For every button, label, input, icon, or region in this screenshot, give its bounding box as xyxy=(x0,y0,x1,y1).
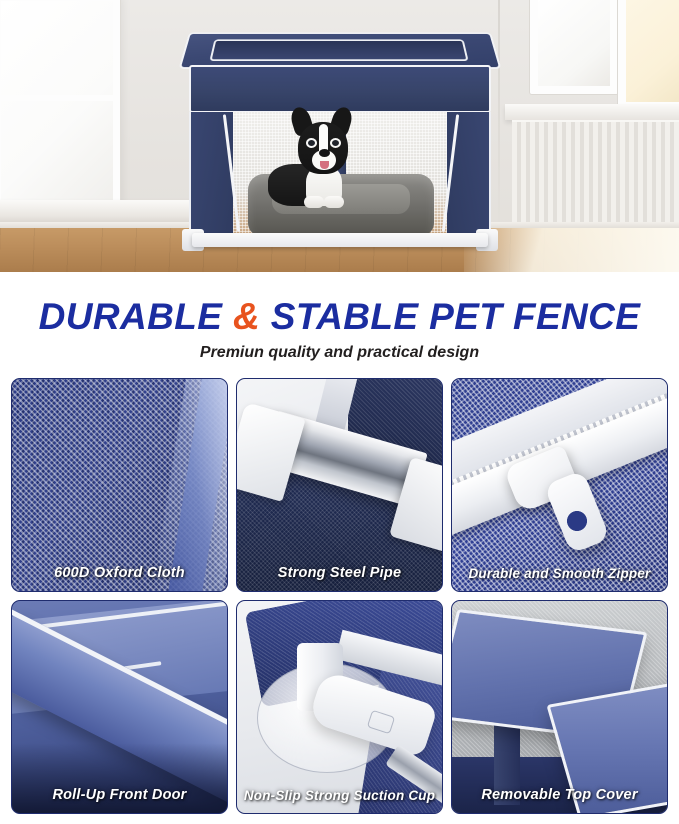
feature-label-roll-up-door: Roll-Up Front Door xyxy=(12,787,227,803)
headline: DURABLE & STABLE PET FENCE xyxy=(0,296,679,338)
feature-card-steel-pipe: Strong Steel Pipe xyxy=(236,378,443,592)
playpen-top-opening xyxy=(209,39,468,61)
dog-eye-left xyxy=(308,140,315,146)
feature-card-suction-cup: Non-Slip Strong Suction Cup xyxy=(236,600,443,814)
headline-part-2: STABLE PET FENCE xyxy=(271,296,641,337)
border-collie-dog xyxy=(272,116,376,212)
product-feature-page: DURABLE & STABLE PET FENCE Premiun quali… xyxy=(0,0,679,824)
steel-pipe-photo xyxy=(237,379,442,591)
roll-up-door-photo xyxy=(12,601,227,813)
window-left xyxy=(0,0,120,212)
feature-card-top-cover: Removable Top Cover xyxy=(451,600,668,814)
dog-tongue xyxy=(320,161,329,169)
suction-cup-photo xyxy=(237,601,442,813)
feature-card-oxford-cloth: 600D Oxford Cloth xyxy=(11,378,228,592)
playpen-upper-band xyxy=(189,65,491,113)
feature-card-roll-up-door: Roll-Up Front Door xyxy=(11,600,228,814)
zipper-photo xyxy=(452,379,667,591)
headline-part-1: DURABLE xyxy=(39,296,223,337)
window-right-near xyxy=(530,0,618,94)
top-cover-photo xyxy=(452,601,667,813)
hero-product-photo xyxy=(0,0,679,272)
feature-label-suction-cup: Non-Slip Strong Suction Cup xyxy=(237,788,442,803)
oxford-cloth-photo xyxy=(12,379,227,591)
pet-playpen xyxy=(178,28,502,250)
feature-label-zipper: Durable and Smooth Zipper xyxy=(452,566,667,581)
window-sill-right xyxy=(505,104,679,120)
feature-label-steel-pipe: Strong Steel Pipe xyxy=(237,565,442,581)
dog-nose xyxy=(319,149,330,157)
dog-paw-right xyxy=(324,196,344,208)
fabric-fold xyxy=(168,379,228,592)
headline-ampersand: & xyxy=(233,296,260,337)
feature-label-top-cover: Removable Top Cover xyxy=(452,787,667,803)
feature-card-zipper: Durable and Smooth Zipper xyxy=(451,378,668,592)
dog-paw-left xyxy=(304,196,324,208)
subheadline: Premiun quality and practical design xyxy=(0,344,679,362)
feature-card-grid: 600D Oxford Cloth Strong Steel Pipe xyxy=(11,378,668,814)
dog-eye-right xyxy=(332,140,339,146)
window-right-far xyxy=(618,0,679,110)
playpen-bottom-rail xyxy=(192,233,488,247)
feature-label-oxford-cloth: 600D Oxford Cloth xyxy=(12,565,227,581)
